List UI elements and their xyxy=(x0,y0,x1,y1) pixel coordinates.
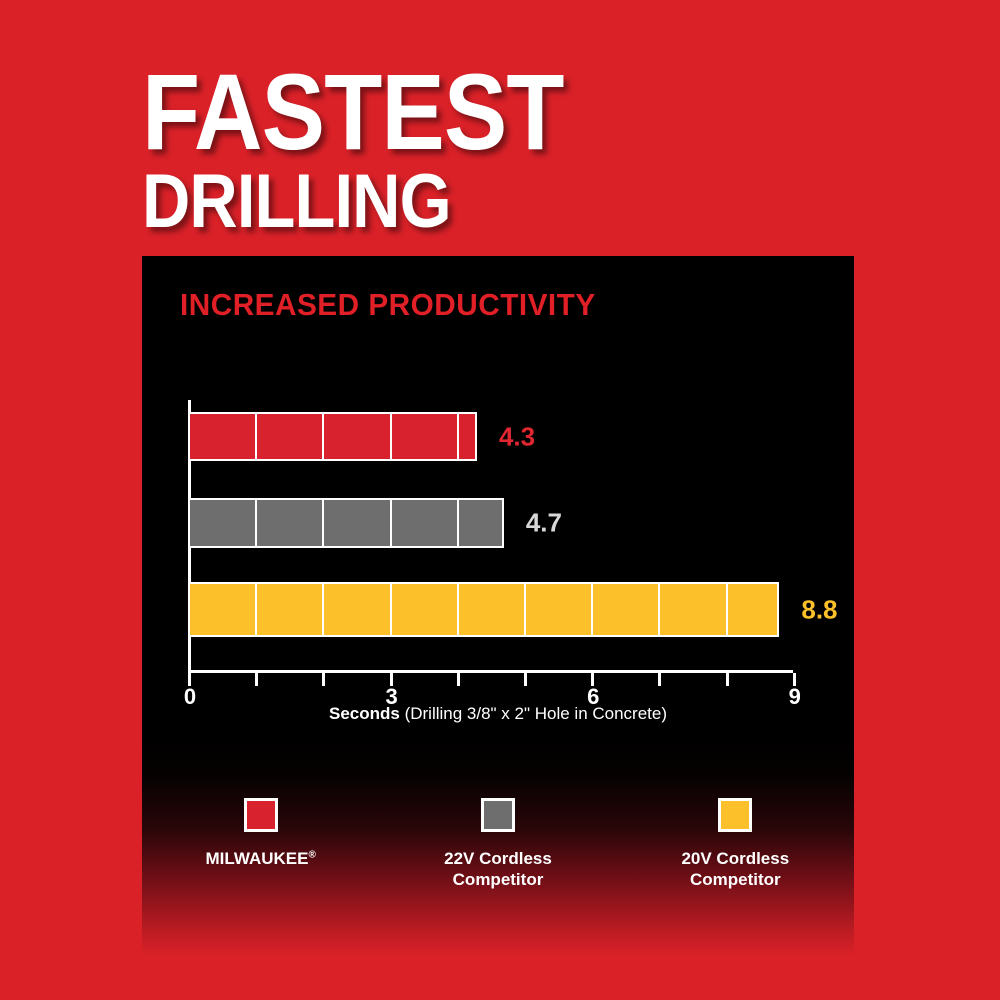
x-axis-tick xyxy=(322,673,325,686)
headline: FASTEST DRILLING xyxy=(142,62,902,237)
registered-trademark-icon: ® xyxy=(308,849,315,860)
bar xyxy=(188,412,477,461)
legend-item: 22V Cordless Competitor xyxy=(379,798,616,891)
bar-segment xyxy=(324,500,391,546)
x-axis-line xyxy=(188,670,793,673)
bar-segment xyxy=(392,414,459,459)
bar-chart-plot: 0369 4.34.78.8 xyxy=(142,256,854,726)
legend-item: 20V Cordless Competitor xyxy=(617,798,854,891)
legend-swatch xyxy=(481,798,515,832)
chart-legend: MILWAUKEE®22V Cordless Competitor20V Cor… xyxy=(142,798,854,891)
bar xyxy=(188,498,504,548)
bar-segment xyxy=(392,500,459,546)
bar-segment xyxy=(459,584,526,635)
bar-segment xyxy=(593,584,660,635)
legend-label: 20V Cordless Competitor xyxy=(681,848,789,891)
bar-segment xyxy=(190,500,257,546)
bar-segment xyxy=(257,584,324,635)
bar-segment-partial xyxy=(459,500,502,546)
bar-row: 8.8 xyxy=(188,582,779,637)
legend-item: MILWAUKEE® xyxy=(142,798,379,891)
headline-line-1: FASTEST xyxy=(142,62,811,161)
x-axis-tick xyxy=(524,673,527,686)
bar-segment-partial xyxy=(728,584,778,635)
legend-label: MILWAUKEE® xyxy=(206,848,316,869)
bar-segment xyxy=(257,414,324,459)
headline-line-2: DRILLING xyxy=(142,167,811,237)
bar-segment xyxy=(526,584,593,635)
bar-segment xyxy=(190,584,257,635)
legend-swatch xyxy=(718,798,752,832)
bar-segment xyxy=(324,414,391,459)
bar-value-label: 4.7 xyxy=(526,508,562,539)
bar-row: 4.3 xyxy=(188,412,477,461)
bar-segment xyxy=(257,500,324,546)
x-axis-caption-rest: (Drilling 3/8" x 2" Hole in Concrete) xyxy=(400,704,667,723)
bar-segment-partial xyxy=(459,414,475,459)
x-axis-caption-bold: Seconds xyxy=(329,704,400,723)
x-axis-tick xyxy=(658,673,661,686)
bar-segment xyxy=(324,584,391,635)
x-axis-caption: Seconds (Drilling 3/8" x 2" Hole in Conc… xyxy=(142,704,854,724)
bar-value-label: 8.8 xyxy=(801,594,837,625)
x-axis-tick xyxy=(255,673,258,686)
x-axis-tick xyxy=(457,673,460,686)
bar-segment xyxy=(392,584,459,635)
x-axis-tick xyxy=(726,673,729,686)
chart-panel: INCREASED PRODUCTIVITY 0369 4.34.78.8 Se… xyxy=(142,256,854,956)
bar-segment xyxy=(660,584,727,635)
bar-segment xyxy=(190,414,257,459)
legend-label: 22V Cordless Competitor xyxy=(444,848,552,891)
bar xyxy=(188,582,779,637)
bar-value-label: 4.3 xyxy=(499,421,535,452)
bar-row: 4.7 xyxy=(188,498,504,548)
legend-swatch xyxy=(244,798,278,832)
